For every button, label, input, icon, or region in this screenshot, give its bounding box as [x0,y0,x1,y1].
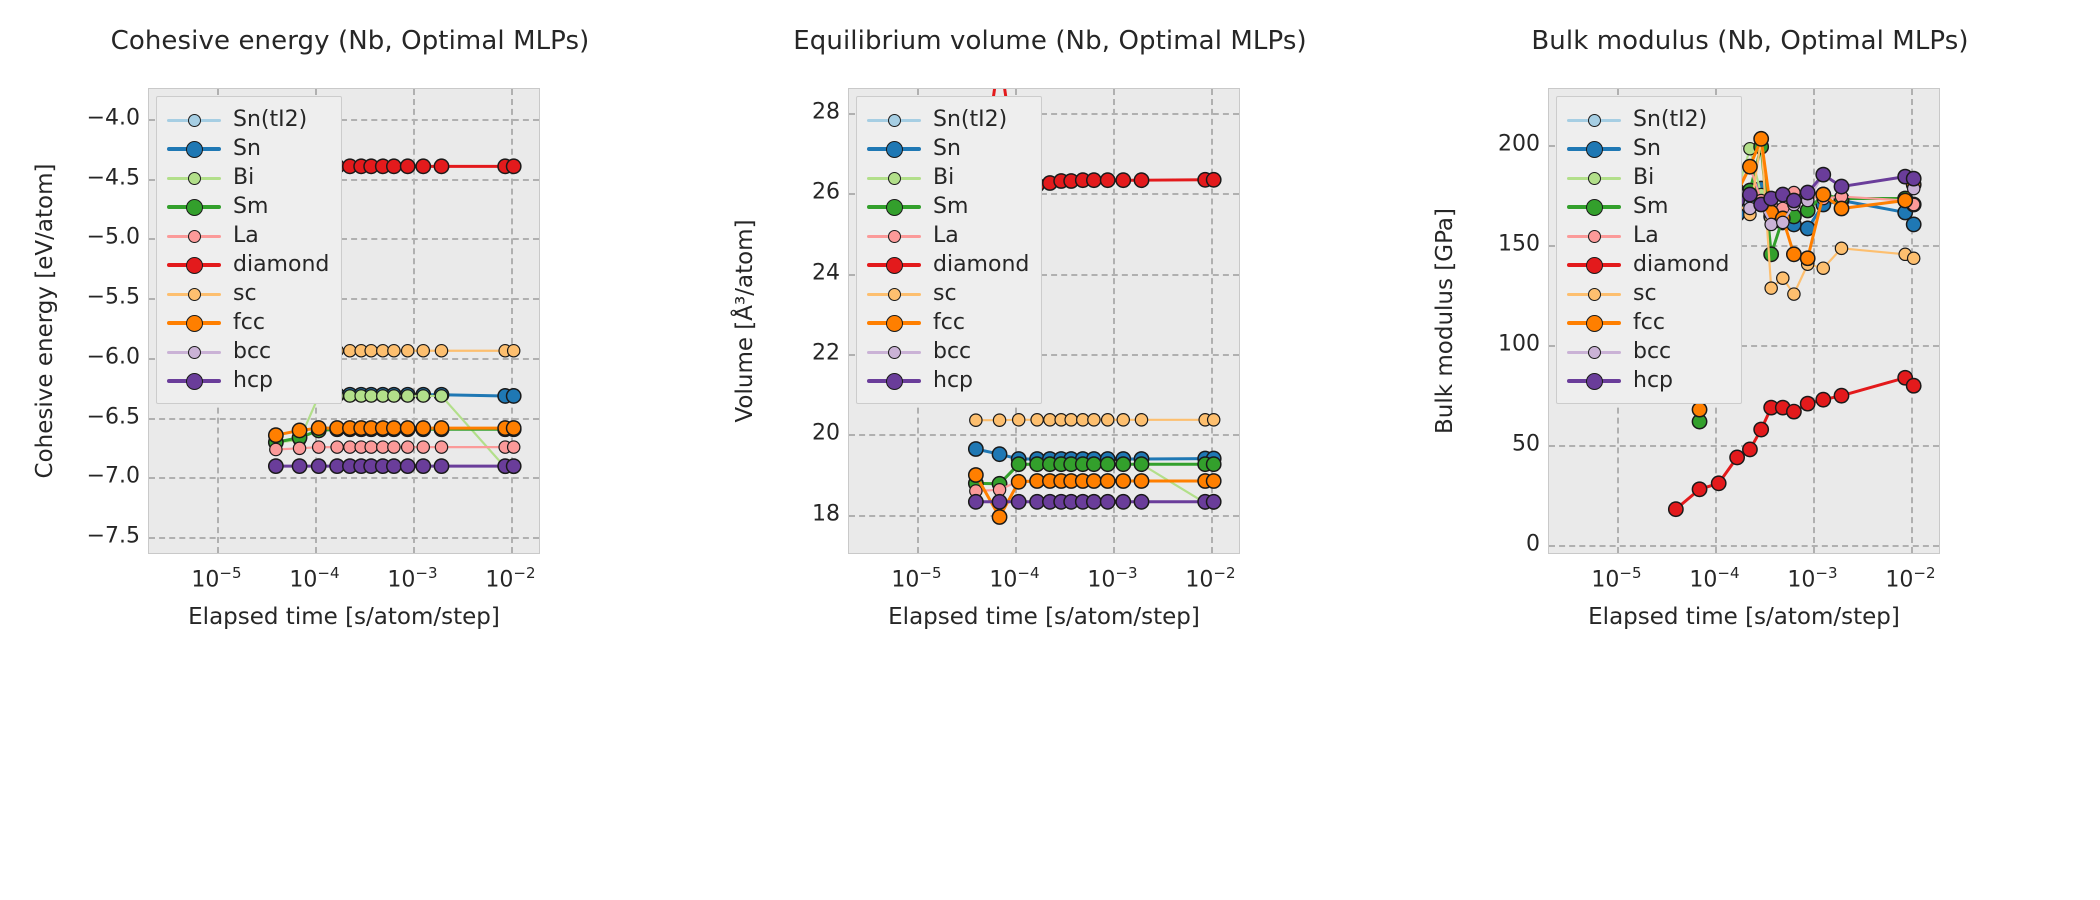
legend-dot-icon [888,172,901,185]
legend-marker-icon [867,342,921,362]
legend-label: La [1633,225,1659,247]
legend-dot-icon [188,288,201,301]
legend-marker-icon [167,110,221,130]
data-point [269,428,283,442]
legend-marker-icon [1567,255,1621,275]
data-point [402,390,414,402]
legend-marker-icon [167,139,221,159]
legend-marker-icon [1567,284,1621,304]
legend-marker-icon [1567,110,1621,130]
legend-marker-icon [867,371,921,391]
data-point [1712,476,1726,490]
legend-dot-icon [186,257,203,274]
legend-dot-icon [1588,230,1601,243]
data-point [434,159,448,173]
legend-dot-icon [1586,141,1603,158]
data-point [1908,252,1920,264]
legend-item-hcp[interactable]: hcp [1567,366,1729,395]
legend-item-bcc[interactable]: bcc [1567,337,1729,366]
legend-marker-icon [1567,226,1621,246]
x-axis-label: Elapsed time [s/atom/step] [148,604,540,630]
legend-dot-icon [1586,199,1603,216]
legend-item-hcp[interactable]: hcp [167,366,329,395]
data-point [1787,247,1801,261]
legend-marker-icon [1567,139,1621,159]
y-axis-label: Bulk modulus [GPa] [1432,208,1458,434]
data-point [417,441,429,453]
data-point [1134,495,1148,509]
legend-label: fcc [233,312,265,334]
legend-item-diamond[interactable]: diamond [167,250,329,279]
data-point [969,442,983,456]
data-point [401,459,415,473]
legend-dot-icon [888,288,901,301]
data-point [417,390,429,402]
data-point [387,459,401,473]
y-tick-label: 24 [812,260,840,285]
x-tick-label: 10−2 [1185,564,1235,592]
data-point [292,423,306,437]
data-point [1101,457,1115,471]
data-point [1834,201,1848,215]
legend-dot-icon [1588,114,1601,127]
legend-item-bcc[interactable]: bcc [167,337,329,366]
legend-label: Sn(tI2) [233,109,307,131]
data-point [1692,402,1706,416]
data-point [344,441,356,453]
legend-dot-icon [186,141,203,158]
x-tick-label: 10−2 [485,564,535,592]
legend-dot-icon [886,373,903,390]
data-point [1816,187,1830,201]
data-point [388,390,400,402]
data-point [312,459,326,473]
data-point [365,390,377,402]
y-tick-label: −5.0 [87,225,140,250]
data-point [1102,414,1114,426]
data-point [1116,474,1130,488]
legend-label: fcc [1633,312,1665,334]
legend-item-diamond[interactable]: diamond [867,250,1029,279]
data-point [969,468,983,482]
data-point [1077,414,1089,426]
legend-dot-icon [886,315,903,332]
data-point [331,441,343,453]
y-tick-label: 22 [812,341,840,366]
y-tick-label: −6.0 [87,344,140,369]
legend-marker-icon [167,371,221,391]
data-point [1134,474,1148,488]
data-point [1765,218,1777,230]
data-point [1087,457,1101,471]
legend-item-sn[interactable]: Sn [867,134,1029,163]
data-point [417,345,429,357]
y-axis-label: Cohesive energy [eV/atom] [32,164,58,479]
legend-label: sc [1633,283,1657,305]
data-point [992,510,1006,524]
data-point [344,345,356,357]
data-point [1765,282,1777,294]
legend-label: Sn(tI2) [933,109,1007,131]
legend-dot-icon [188,114,201,127]
figure-canvas: Cohesive energy (Nb, Optimal MLPs) −4.0−… [0,0,2100,900]
data-point [1907,379,1921,393]
legend-dot-icon [1586,315,1603,332]
data-point [313,441,325,453]
data-point [1087,173,1101,187]
data-point [435,345,447,357]
legend-label: diamond [933,254,1029,276]
data-point [1743,159,1757,173]
legend-marker-icon [167,313,221,333]
data-point [1907,171,1921,185]
data-point [387,421,401,435]
legend-label: fcc [933,312,965,334]
data-point [1787,193,1801,207]
x-tick-label: 10−5 [891,564,941,592]
legend-marker-icon [867,313,921,333]
data-point [435,390,447,402]
data-point [1898,193,1912,207]
data-point [434,459,448,473]
data-point [993,414,1005,426]
legend-label: Bi [933,167,954,189]
x-tick-label: 10−3 [1787,564,1837,592]
legend-label: Bi [1633,167,1654,189]
data-point [1730,450,1744,464]
x-tick-label: 10−5 [1591,564,1641,592]
y-tick-label: −7.0 [87,464,140,489]
legend-item-sn[interactable]: Sn [1567,134,1729,163]
legend-dot-icon [888,114,901,127]
legend-marker-icon [867,284,921,304]
legend-dot-icon [886,257,903,274]
y-tick-label: −4.0 [87,105,140,130]
panel-bulk-modulus: Bulk modulus (Nb, Optimal MLPs) 05010015… [1400,0,2100,900]
legend: Sn(tI2)SnBiSmLadiamondscfccbcchcp [856,96,1042,404]
data-point [1044,414,1056,426]
y-tick-label: 100 [1498,332,1540,357]
data-point [1788,288,1800,300]
legend-item-hcp[interactable]: hcp [867,366,1029,395]
data-point [507,159,521,173]
legend-item-sn_ti2[interactable]: Sn(tI2) [867,105,1029,134]
data-point [507,389,521,403]
legend-item-la[interactable]: La [167,221,329,250]
legend-dot-icon [886,199,903,216]
data-point [270,443,282,455]
legend-label: Sn [1633,138,1661,160]
legend-label: bcc [233,341,271,363]
data-point [377,345,389,357]
data-point [1834,179,1848,193]
legend-item-sm[interactable]: Sm [1567,192,1729,221]
data-point [1087,495,1101,509]
data-point [1208,414,1220,426]
legend-marker-icon [167,255,221,275]
x-tick-labels: 10−510−410−310−2 [148,560,540,600]
legend-marker-icon [867,168,921,188]
legend-dot-icon [186,199,203,216]
data-point [1834,389,1848,403]
legend-label: La [233,225,259,247]
data-point [1065,414,1077,426]
legend-item-sn_ti2[interactable]: Sn(tI2) [167,105,329,134]
legend-marker-icon [867,255,921,275]
data-point [1117,414,1129,426]
data-point [269,459,283,473]
x-tick-labels: 10−510−410−310−2 [1548,560,1940,600]
data-point [1207,457,1221,471]
legend-label: Sn [233,138,261,160]
data-point [1207,474,1221,488]
x-tick-label: 10−4 [289,564,339,592]
panel-title: Cohesive energy (Nb, Optimal MLPs) [0,26,700,56]
legend-dot-icon [886,141,903,158]
data-point [1116,495,1130,509]
data-point [388,441,400,453]
legend-item-sc[interactable]: sc [1567,279,1729,308]
legend: Sn(tI2)SnBiSmLadiamondscfccbcchcp [156,96,342,404]
legend-dot-icon [1586,373,1603,390]
data-point [1012,457,1026,471]
y-tick-label: −4.5 [87,165,140,190]
legend-label: diamond [233,254,329,276]
legend-dot-icon [186,315,203,332]
legend-marker-icon [167,168,221,188]
data-point [416,421,430,435]
data-point [1207,495,1221,509]
legend-marker-icon [167,284,221,304]
x-tick-label: 10−4 [989,564,1039,592]
legend-label: La [933,225,959,247]
legend-label: Sm [933,196,968,218]
data-point [416,459,430,473]
x-tick-label: 10−4 [1689,564,1739,592]
data-point [1101,495,1115,509]
panel-equilibrium-volume: Equilibrium volume (Nb, Optimal MLPs) 18… [700,0,1400,900]
legend-item-la[interactable]: La [867,221,1029,250]
data-point [1101,173,1115,187]
legend-item-sm[interactable]: Sm [867,192,1029,221]
data-point [1669,502,1683,516]
data-point [1013,414,1025,426]
data-point [1764,247,1778,261]
legend-marker-icon [1567,197,1621,217]
data-point [387,159,401,173]
panel-title: Bulk modulus (Nb, Optimal MLPs) [1400,26,2100,56]
legend-dot-icon [188,230,201,243]
data-point [970,414,982,426]
legend-label: bcc [933,341,971,363]
data-point [1116,173,1130,187]
legend-item-bi[interactable]: Bi [867,163,1029,192]
legend-label: diamond [1633,254,1729,276]
data-point [1801,396,1815,410]
legend-label: hcp [933,370,973,392]
data-point [1907,217,1921,231]
y-tick-label: 200 [1498,132,1540,157]
data-point [969,495,983,509]
data-point [1835,242,1847,254]
legend-dot-icon [188,172,201,185]
x-axis-label: Elapsed time [s/atom/step] [1548,604,1940,630]
data-point [1207,173,1221,187]
legend-item-la[interactable]: La [1567,221,1729,250]
data-point [508,345,520,357]
legend-item-sc[interactable]: sc [867,279,1029,308]
data-point [1134,457,1148,471]
legend-dot-icon [1588,288,1601,301]
legend-label: sc [933,283,957,305]
y-tick-label: 20 [812,421,840,446]
legend-item-bcc[interactable]: bcc [867,337,1029,366]
series-sc [970,414,1220,427]
legend-marker-icon [867,226,921,246]
legend-dot-icon [188,346,201,359]
legend-item-sn_ti2[interactable]: Sn(tI2) [1567,105,1729,134]
data-point [1135,414,1147,426]
legend-item-bi[interactable]: Bi [167,163,329,192]
x-tick-labels: 10−510−410−310−2 [848,560,1240,600]
data-point [1743,187,1757,201]
data-point [1777,216,1789,228]
data-point [292,459,306,473]
data-point [365,345,377,357]
panel-cohesive-energy: Cohesive energy (Nb, Optimal MLPs) −4.0−… [0,0,700,900]
y-tick-label: 18 [812,501,840,526]
data-point [416,159,430,173]
data-point [312,421,326,435]
data-point [377,441,389,453]
series-hcp [269,459,521,473]
data-point [1116,457,1130,471]
data-point [1801,251,1815,265]
data-point [1754,132,1768,146]
x-tick-label: 10−5 [191,564,241,592]
y-tick-label: 0 [1526,532,1540,557]
legend-item-bi[interactable]: Bi [1567,163,1729,192]
data-point [1088,414,1100,426]
legend-marker-icon [167,226,221,246]
y-tick-label: −7.5 [87,524,140,549]
legend-dot-icon [1588,346,1601,359]
data-point [1801,185,1815,199]
data-point [1692,482,1706,496]
legend-item-fcc[interactable]: fcc [1567,308,1729,337]
y-tick-label: 28 [812,100,840,125]
data-point [1012,475,1026,489]
legend-item-fcc[interactable]: fcc [867,308,1029,337]
data-point [401,159,415,173]
legend-item-sm[interactable]: Sm [167,192,329,221]
legend-dot-icon [1588,172,1601,185]
x-axis-label: Elapsed time [s/atom/step] [848,604,1240,630]
y-axis-label: Volume [Å³/atom] [732,219,758,422]
legend-item-sn[interactable]: Sn [167,134,329,163]
data-point [1787,404,1801,418]
legend-label: hcp [1633,370,1673,392]
legend: Sn(tI2)SnBiSmLadiamondscfccbcchcp [1556,96,1742,404]
legend-marker-icon [1567,342,1621,362]
data-point [402,345,414,357]
data-point [1817,262,1829,274]
y-tick-label: −6.5 [87,404,140,429]
data-point [293,442,305,454]
data-point [1816,392,1830,406]
legend-dot-icon [186,373,203,390]
legend-dot-icon [1586,257,1603,274]
legend-dot-icon [888,230,901,243]
legend-label: Sn(tI2) [1633,109,1707,131]
data-point [992,495,1006,509]
y-tick-label: −5.5 [87,285,140,310]
x-tick-label: 10−3 [387,564,437,592]
data-point [377,390,389,402]
data-point [1134,173,1148,187]
legend-item-fcc[interactable]: fcc [167,308,329,337]
legend-item-diamond[interactable]: diamond [1567,250,1729,279]
data-point [992,447,1006,461]
data-point [344,390,356,402]
data-point [1754,422,1768,436]
data-point [507,459,521,473]
data-point [434,421,448,435]
data-point [401,421,415,435]
legend-label: Sm [233,196,268,218]
data-point [1777,272,1789,284]
data-point [1743,442,1757,456]
y-tick-label: 26 [812,180,840,205]
data-point [365,441,377,453]
x-tick-label: 10−2 [1885,564,1935,592]
legend-label: sc [233,283,257,305]
legend-label: Bi [233,167,254,189]
data-point [1012,495,1026,509]
panel-title: Equilibrium volume (Nb, Optimal MLPs) [700,26,1400,56]
y-tick-label: 50 [1512,432,1540,457]
legend-marker-icon [1567,313,1621,333]
y-tick-label: 150 [1498,232,1540,257]
legend-label: Sm [1633,196,1668,218]
legend-marker-icon [1567,371,1621,391]
data-point [508,441,520,453]
data-point [1816,167,1830,181]
data-point [1101,474,1115,488]
legend-label: bcc [1633,341,1671,363]
legend-marker-icon [167,197,221,217]
legend-item-sc[interactable]: sc [167,279,329,308]
x-tick-label: 10−3 [1087,564,1137,592]
legend-marker-icon [867,197,921,217]
legend-marker-icon [167,342,221,362]
data-point [1087,474,1101,488]
data-point [507,421,521,435]
legend-label: hcp [233,370,273,392]
legend-label: Sn [933,138,961,160]
data-point [435,441,447,453]
legend-marker-icon [867,110,921,130]
data-point [388,345,400,357]
legend-dot-icon [888,346,901,359]
legend-marker-icon [1567,168,1621,188]
data-point [402,441,414,453]
legend-marker-icon [867,139,921,159]
data-point [1031,414,1043,426]
